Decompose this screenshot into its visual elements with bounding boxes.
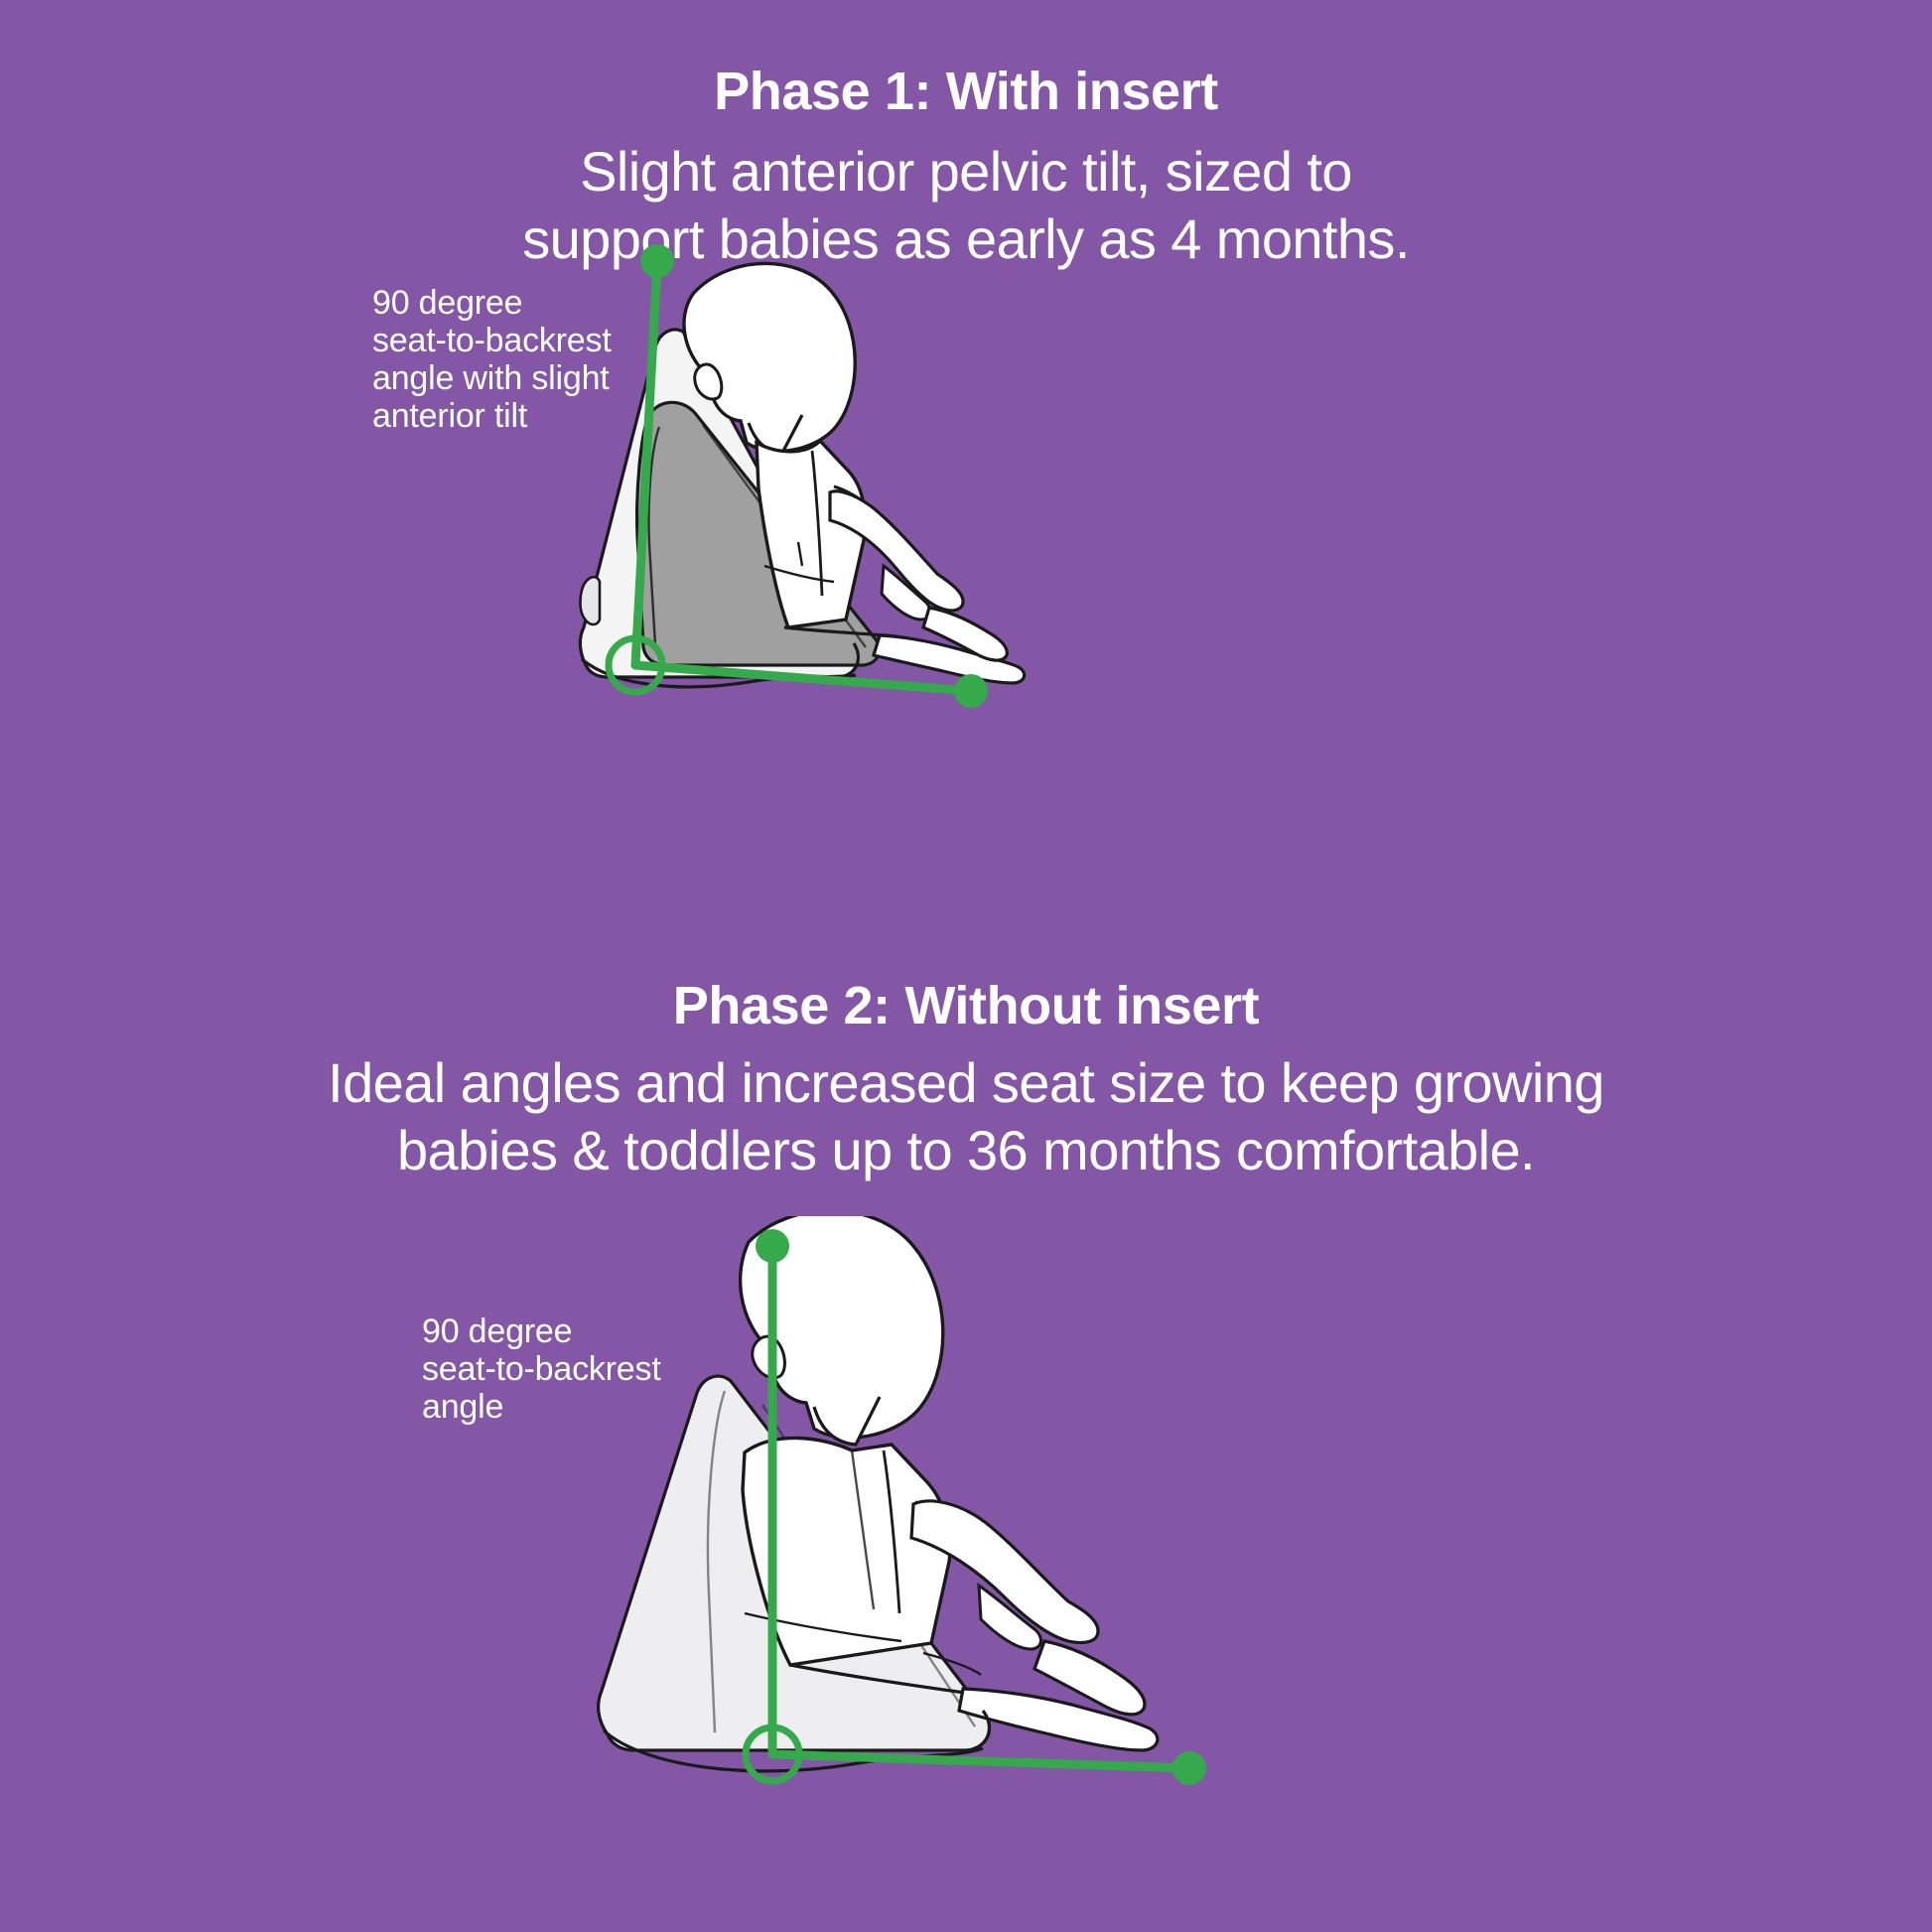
phase-2-subtitle-line-2: babies & toddlers up to 36 months comfor… [0,1118,1932,1183]
angle-indicator-phase-2 [746,1229,1206,1785]
phase-2-heading: Phase 2: Without insert [0,978,1932,1035]
infographic-poster: Phase 1: With insert Slight anterior pel… [0,0,1932,1932]
angle-dot-right [954,674,988,708]
phase-1-angle-overlay [536,228,1251,745]
phase-2-subtitle-line-1: Ideal angles and increased seat size to … [0,1050,1932,1116]
angle-indicator-phase-1 [609,244,988,708]
phase-1-subtitle-line-1: Slight anterior pelvic tilt, sized to [0,139,1932,205]
phase-2-angle-overlay [586,1206,1301,1842]
angle-dot-top [756,1229,789,1263]
angle-dot-top [640,244,674,278]
angle-dot-right [1173,1751,1206,1785]
phase-1-heading: Phase 1: With insert [0,64,1932,120]
